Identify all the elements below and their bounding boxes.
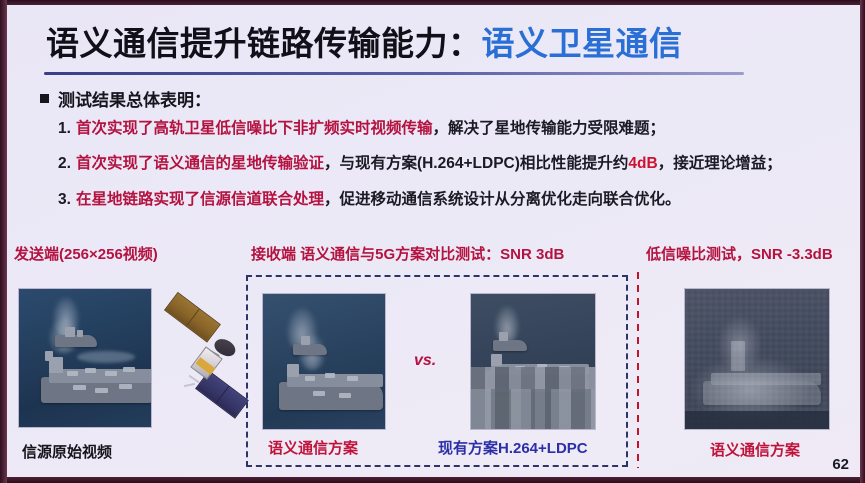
slide-frame-right (860, 0, 865, 483)
caption-receiver-comparison: 接收端 语义通信与5G方案对比测试：SNR 3dB (251, 243, 564, 264)
presentation-slide: 语义通信提升链路传输能力：语义卫星通信 测试结果总体表明： 1. 首次实现了高轨… (0, 0, 865, 483)
low-snr-scheme-label: 语义通信方案 (710, 439, 800, 460)
source-video-thumbnail (18, 288, 152, 428)
title-main-text: 语义通信提升链路传输能力： (46, 25, 482, 62)
list-item-highlight: 首次实现了语义通信的星地传输验证 (76, 155, 324, 172)
list-item-index: 1. (58, 119, 71, 138)
list-item: 2. 首次实现了语义通信的星地传输验证，与现有方案(H.264+LDPC)相比性… (58, 154, 858, 173)
low-snr-panel-border (637, 272, 639, 468)
ship-wake (77, 351, 135, 363)
caption-low-snr: 低信噪比测试，SNR -3.3dB (646, 243, 833, 264)
satellite-icon (158, 312, 254, 412)
square-bullet-icon (40, 94, 49, 103)
dark-band (685, 411, 829, 429)
vs-marker: vs. (414, 352, 436, 370)
h264-scheme-label: 现有方案H.264+LDPC (438, 437, 588, 458)
list-item: 1. 首次实现了高轨卫星低信噪比下非扩频实时视频传输，解决了星地传输能力受限难题… (58, 119, 858, 138)
list-item-rest-b: ，接近理论增益； (658, 155, 782, 172)
semantic-result-thumbnail (262, 293, 386, 430)
satellite-solar-panel-navy (195, 370, 249, 418)
page-title: 语义通信提升链路传输能力：语义卫星通信 (46, 17, 683, 65)
caption-transmitter: 发送端(256×256视频) (14, 243, 158, 264)
h264-result-thumbnail (470, 293, 596, 430)
page-number: 62 (832, 456, 849, 473)
findings-list: 1. 首次实现了高轨卫星低信噪比下非扩频实时视频传输，解决了星地传输能力受限难题… (58, 119, 858, 225)
list-item-index: 2. (58, 154, 71, 173)
list-item-highlight: 在星地链路实现了信源信道联合处理 (76, 191, 324, 208)
list-item-emphasis: 4dB (628, 155, 657, 172)
compression-artifact-bands (471, 389, 595, 430)
list-item-rest-a: ，与现有方案(H.264+LDPC)相比性能提升约 (324, 155, 628, 172)
list-item-index: 3. (58, 190, 71, 209)
slide-frame-left (0, 0, 7, 483)
satellite-leg (184, 383, 195, 387)
slide-frame-bottom (0, 477, 865, 483)
lead-bullet: 测试结果总体表明： (40, 86, 211, 111)
list-item-rest: ，解决了星地传输能力受限难题； (432, 120, 665, 137)
list-item: 3. 在星地链路实现了信源信道联合处理，促进移动通信系统设计从分离优化走向联合优… (58, 190, 858, 209)
title-underline (44, 72, 744, 75)
noise-overlay (685, 289, 829, 429)
list-item-rest: ，促进移动通信系统设计从分离优化走向联合优化。 (324, 191, 681, 208)
list-item-highlight: 首次实现了高轨卫星低信噪比下非扩频实时视频传输 (76, 120, 433, 137)
source-video-label: 信源原始视频 (22, 441, 112, 462)
lead-bullet-label: 测试结果总体表明： (58, 86, 211, 111)
title-accent-text: 语义卫星通信 (482, 25, 683, 62)
low-snr-result-thumbnail (684, 288, 830, 430)
semantic-scheme-label: 语义通信方案 (268, 437, 358, 458)
